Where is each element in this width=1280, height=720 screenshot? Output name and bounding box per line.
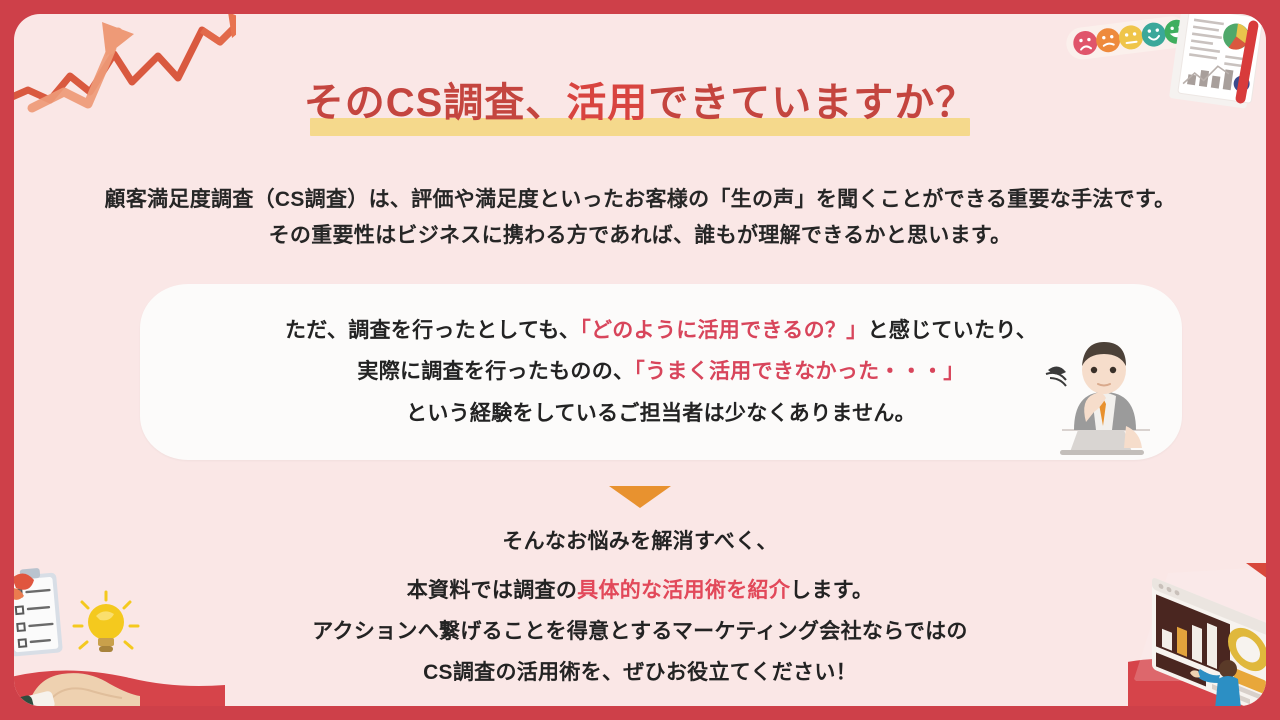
closing-line-2-a: 本資料では調査の [407,579,577,602]
closing-paragraph: そんなお悩みを解消すべく、 本資料では調査の具体的な活用術を紹介します。 アクシ… [14,522,1266,694]
card-line-1-a: ただ、調査を行ったとしても、 [285,319,580,342]
closing-line-4: CS調査の活用術を、ぜひお役立てください！ [14,653,1266,694]
slide-root: そのCS調査、活用できていますか？ 顧客満足度調査（CS調査）は、評価や満足度と… [0,0,1280,720]
card-line-2-red: 「うまく活用できなかった・・・」 [634,360,964,383]
intro-line-2: その重要性はビジネスに携わる方であれば、誰もが理解できるかと思います。 [14,218,1266,254]
closing-line-2-red: 具体的な活用術を紹介 [577,579,790,602]
card-text-block: ただ、調査を行ったとしても、「どのように活用できるの？」と感じていたり、 実際に… [140,284,1182,460]
intro-paragraph: 顧客満足度調査（CS調査）は、評価や満足度といったお客様の「生の声」を聞くことが… [14,182,1266,254]
card-line-1: ただ、調査を行ったとしても、「どのように活用できるの？」と感じていたり、 [285,310,1037,352]
closing-line-1: そんなお悩みを解消すべく、 [14,522,1266,563]
closing-line-2: 本資料では調査の具体的な活用術を紹介します。 [14,571,1266,612]
closing-line-3: アクションへ繋げることを得意とするマーケティング会社ならではの [14,612,1266,653]
card-line-1-red: 「どのように活用できるの？」 [580,319,867,342]
title-emphasis: 活用 [566,81,648,125]
card-line-3: という経験をしているご担当者は少なくありません。 [406,393,916,435]
intro-line-1: 顧客満足度調査（CS調査）は、評価や満足度といったお客様の「生の声」を聞くことが… [14,182,1266,218]
slide-panel: そのCS調査、活用できていますか？ 顧客満足度調査（CS調査）は、評価や満足度と… [14,14,1266,706]
down-arrow-icon [609,486,671,508]
closing-line-2-b: します。 [790,579,873,602]
title-block: そのCS調査、活用できていますか？ [14,80,1266,127]
title-part-1: そのCS調査、 [304,81,567,125]
card-line-2-a: 実際に調査を行ったものの、 [357,360,634,383]
page-title: そのCS調査、活用できていますか？ [304,80,977,127]
title-part-2: できていますか？ [648,81,976,125]
card-line-2: 実際に調査を行ったものの、「うまく活用できなかった・・・」 [357,351,964,393]
card-line-1-b: と感じていたり、 [867,319,1037,342]
